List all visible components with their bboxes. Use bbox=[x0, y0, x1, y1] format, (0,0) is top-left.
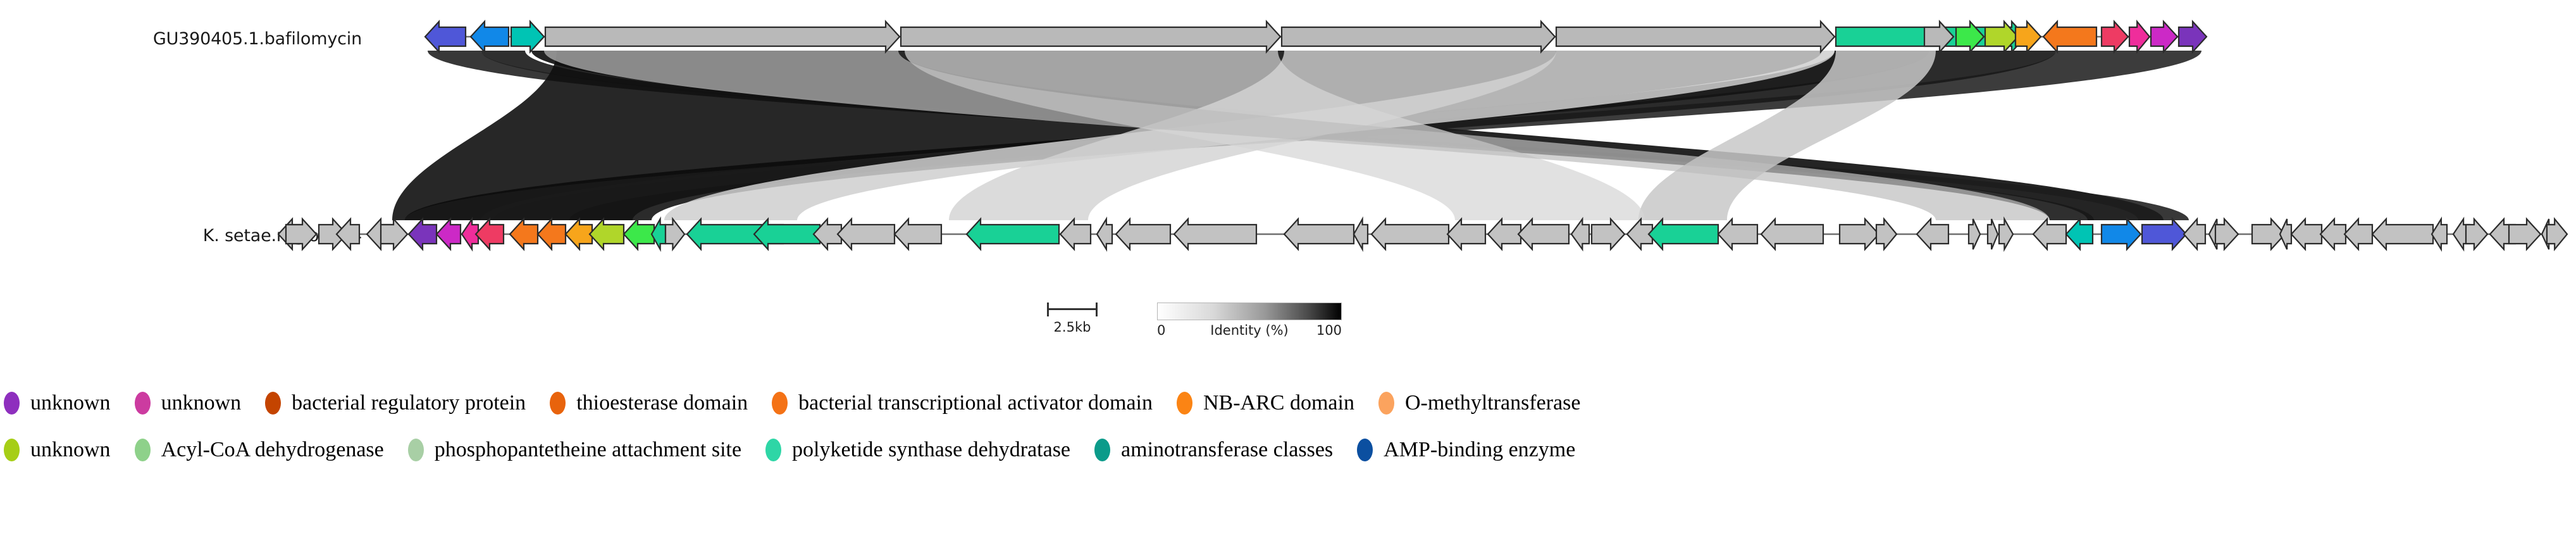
legend-label: O-methyltransferase bbox=[1405, 391, 1581, 415]
gene-arrow[interactable] bbox=[538, 219, 566, 249]
gene-arrow[interactable] bbox=[1917, 219, 1948, 249]
gene-arrow[interactable] bbox=[1956, 22, 1984, 52]
identity-min-label: 0 bbox=[1157, 323, 1165, 338]
similarity-links-layer bbox=[392, 51, 2201, 220]
legend-color-swatch-icon bbox=[265, 392, 281, 415]
legend-row: unknownAcyl-CoA dehydrogenasephosphopant… bbox=[0, 427, 2576, 473]
gene-arrow[interactable] bbox=[437, 219, 461, 249]
gene-arrow[interactable] bbox=[2372, 219, 2433, 249]
legend-label: bacterial transcriptional activator doma… bbox=[798, 391, 1153, 415]
scale-bar-label: 2.5kb bbox=[1047, 320, 1098, 335]
legend-label: NB-ARC domain bbox=[1203, 391, 1354, 415]
gene-arrow[interactable] bbox=[425, 22, 466, 52]
legend-label: unknown bbox=[30, 391, 111, 415]
legend-label: Acyl-CoA dehydrogenase bbox=[161, 438, 384, 462]
gene-arrow[interactable] bbox=[624, 219, 654, 249]
gene-arrow[interactable] bbox=[2033, 219, 2066, 249]
gene-arrow[interactable] bbox=[1924, 22, 1954, 52]
gene-arrow[interactable] bbox=[1571, 219, 1589, 249]
gene-arrow[interactable] bbox=[2432, 219, 2447, 249]
gene-arrow[interactable] bbox=[1988, 219, 1998, 249]
gene-arrow[interactable] bbox=[1840, 219, 1879, 249]
gene-arrow[interactable] bbox=[1354, 219, 1368, 249]
gene-arrow[interactable] bbox=[2291, 219, 2322, 249]
gene-arrow[interactable] bbox=[337, 219, 359, 249]
legend-label: phosphopantetheine attachment site bbox=[435, 438, 741, 462]
gene-arrow[interactable] bbox=[1876, 219, 1897, 249]
legend-label: thioesterase domain bbox=[576, 391, 748, 415]
gene-arrow[interactable] bbox=[2320, 219, 2346, 249]
legend-color-swatch-icon bbox=[772, 392, 788, 415]
identity-max-label: 100 bbox=[1316, 323, 1342, 338]
gene-arrow[interactable] bbox=[1761, 219, 1823, 249]
legend-item[interactable]: unknown bbox=[135, 391, 266, 415]
gene-arrow[interactable] bbox=[590, 219, 624, 249]
gene-arrow[interactable] bbox=[566, 219, 592, 249]
gene-arrow[interactable] bbox=[2102, 219, 2141, 249]
gene-arrow[interactable] bbox=[545, 22, 900, 52]
legend-color-swatch-icon bbox=[135, 439, 151, 461]
gene-arrow[interactable] bbox=[754, 219, 820, 249]
gene-arrow[interactable] bbox=[652, 219, 666, 249]
gene-arrow[interactable] bbox=[1097, 219, 1112, 249]
legend-item[interactable]: aminotransferase classes bbox=[1094, 438, 1357, 462]
legend-label: unknown bbox=[161, 391, 242, 415]
scale-bar-graphic bbox=[1047, 303, 1098, 316]
legend-color-swatch-icon bbox=[765, 439, 781, 461]
gene-arrow[interactable] bbox=[476, 219, 504, 249]
legend-item[interactable]: Acyl-CoA dehydrogenase bbox=[135, 438, 408, 462]
gene-arrow[interactable] bbox=[1116, 219, 1170, 249]
legend-color-swatch-icon bbox=[4, 439, 20, 461]
gene-arrow[interactable] bbox=[1556, 22, 1835, 52]
legend-label: bacterial regulatory protein bbox=[292, 391, 526, 415]
gene-arrow[interactable] bbox=[1969, 219, 1980, 249]
scale-bar-line bbox=[1048, 308, 1097, 310]
gene-arrow[interactable] bbox=[2016, 22, 2041, 52]
gene-arrow[interactable] bbox=[1718, 219, 1757, 249]
gene-arrow[interactable] bbox=[1649, 219, 1718, 249]
gene-arrow[interactable] bbox=[511, 22, 544, 52]
legend-color-swatch-icon bbox=[1094, 439, 1110, 461]
legend-color-swatch-icon bbox=[135, 392, 151, 415]
identity-legend: 0 Identity (%) 100 bbox=[1157, 303, 1347, 340]
legend-color-swatch-icon bbox=[408, 439, 424, 461]
gene-arrow[interactable] bbox=[2179, 22, 2207, 52]
gene-arrow[interactable] bbox=[2142, 219, 2186, 249]
gene-arrow[interactable] bbox=[1592, 219, 1625, 249]
gene-arrow[interactable] bbox=[2066, 219, 2093, 249]
identity-gradient-bar bbox=[1157, 303, 1342, 320]
gene-arrow[interactable] bbox=[1488, 219, 1521, 249]
gene-arrow[interactable] bbox=[666, 219, 684, 249]
scale-and-identity-area: 2.5kb 0 Identity (%) 100 bbox=[1047, 303, 1553, 359]
gene-arrow[interactable] bbox=[1447, 219, 1485, 249]
gene-arrow[interactable] bbox=[1518, 219, 1569, 249]
gene-arrow[interactable] bbox=[1174, 219, 1256, 249]
gene-arrow[interactable] bbox=[471, 22, 509, 52]
legend-item[interactable]: phosphopantetheine attachment site bbox=[408, 438, 765, 462]
legend-item[interactable]: NB-ARC domain bbox=[1177, 391, 1378, 415]
gene-arrow[interactable] bbox=[2344, 219, 2372, 249]
category-legend: unknownunknownbacterial regulatory prote… bbox=[0, 380, 2576, 473]
scale-bar-tick-right bbox=[1096, 303, 1098, 316]
scale-bar: 2.5kb bbox=[1047, 303, 1098, 335]
gene-arrow[interactable] bbox=[2466, 219, 2487, 249]
legend-item[interactable]: thioesterase domain bbox=[550, 391, 772, 415]
gene-arrow[interactable] bbox=[2509, 219, 2541, 249]
gene-arrow[interactable] bbox=[2215, 219, 2238, 249]
legend-label: polyketide synthase dehydratase bbox=[792, 438, 1070, 462]
legend-label: aminotransferase classes bbox=[1121, 438, 1333, 462]
gene-arrow[interactable] bbox=[2547, 219, 2567, 249]
gene-arrow[interactable] bbox=[2043, 22, 2096, 52]
legend-color-swatch-icon bbox=[1177, 392, 1192, 415]
legend-row: unknownunknownbacterial regulatory prote… bbox=[0, 380, 2576, 427]
identity-legend-labels: 0 Identity (%) 100 bbox=[1157, 323, 1342, 340]
legend-item[interactable]: bacterial transcriptional activator doma… bbox=[772, 391, 1177, 415]
gene-arrow[interactable] bbox=[1282, 22, 1555, 52]
legend-item[interactable]: unknown bbox=[4, 391, 135, 415]
cluster-comparison-figure: GU390405.1.bafilomycin K. setae.region00… bbox=[0, 0, 2576, 543]
legend-item[interactable]: bacterial regulatory protein bbox=[265, 391, 550, 415]
gene-arrow[interactable] bbox=[2280, 219, 2291, 249]
legend-color-swatch-icon bbox=[1378, 392, 1394, 415]
gene-arrow[interactable] bbox=[2184, 219, 2205, 249]
legend-color-swatch-icon bbox=[550, 392, 566, 415]
gene-arrow[interactable] bbox=[2102, 22, 2128, 52]
gene-arrow[interactable] bbox=[1284, 219, 1354, 249]
legend-item[interactable]: AMP-binding enzyme bbox=[1357, 438, 1599, 462]
gene-arrow[interactable] bbox=[1999, 219, 2013, 249]
legend-item[interactable]: polyketide synthase dehydratase bbox=[765, 438, 1094, 462]
legend-label: unknown bbox=[30, 438, 111, 462]
legend-item[interactable]: O-methyltransferase bbox=[1378, 391, 1605, 415]
legend-item[interactable]: unknown bbox=[4, 438, 135, 462]
gene-arrow[interactable] bbox=[967, 219, 1059, 249]
identity-title-label: Identity (%) bbox=[1210, 323, 1289, 338]
gene-arrow[interactable] bbox=[838, 219, 895, 249]
gene-arrow[interactable] bbox=[901, 22, 1280, 52]
gene-arrow[interactable] bbox=[381, 219, 407, 249]
legend-label: AMP-binding enzyme bbox=[1384, 438, 1575, 462]
gene-arrow[interactable] bbox=[1060, 219, 1091, 249]
gene-arrows-reference bbox=[278, 219, 2567, 249]
gene-arrow[interactable] bbox=[895, 219, 941, 249]
gene-arrow[interactable] bbox=[2151, 22, 2177, 52]
gene-arrow[interactable] bbox=[409, 219, 437, 249]
gene-arrow[interactable] bbox=[1372, 219, 1449, 249]
legend-color-swatch-icon bbox=[1357, 439, 1373, 461]
gene-arrow[interactable] bbox=[2129, 22, 2150, 52]
legend-color-swatch-icon bbox=[4, 392, 20, 415]
gene-arrows-query bbox=[425, 22, 2207, 52]
gene-arrow[interactable] bbox=[510, 219, 538, 249]
